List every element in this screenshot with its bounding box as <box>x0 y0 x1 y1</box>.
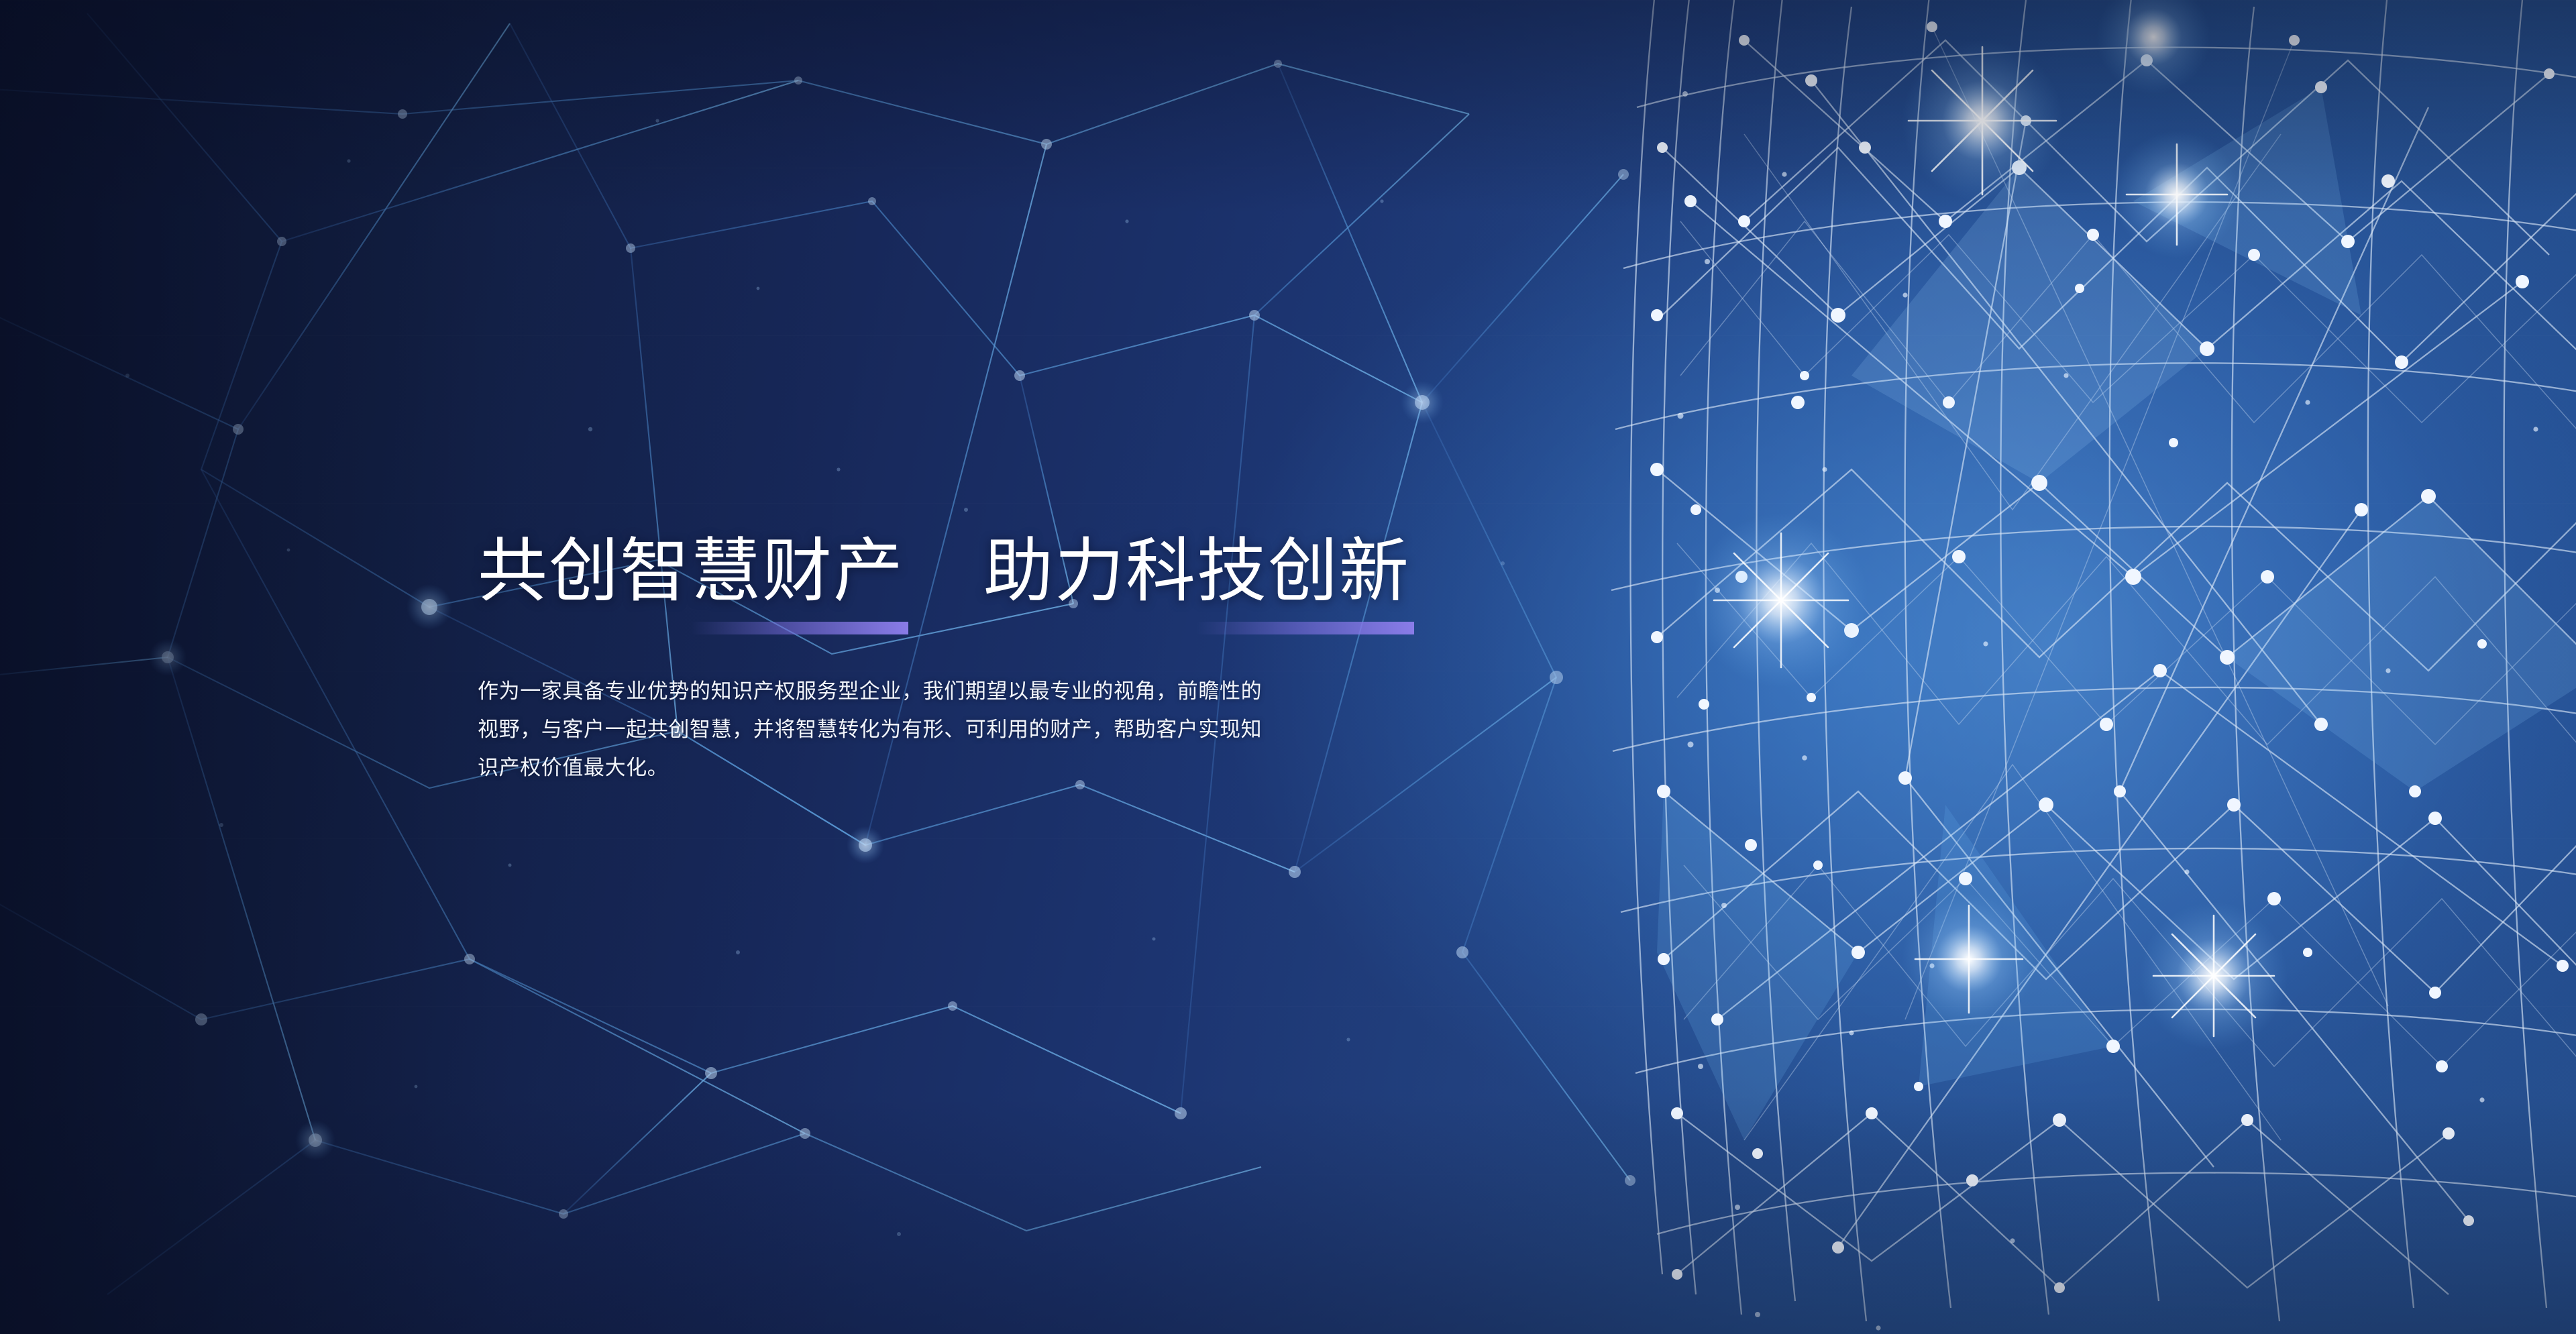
headline-accent-bar-1 <box>691 622 908 634</box>
page-title: 共创智慧财产 助力科技创新 <box>478 537 1484 606</box>
headline-phrase-1: 共创智慧财产 <box>478 537 904 606</box>
hero-banner: 共创智慧财产 助力科技创新 作为一家具备专业优势的知识产权服务型企业，我们期望以… <box>0 0 2576 1334</box>
headline-phrase-1-text: 共创智慧财产 <box>478 533 904 610</box>
headline-accent-bar-2 <box>1197 622 1414 634</box>
headline-phrase-2: 助力科技创新 <box>983 537 1410 606</box>
hero-description: 作为一家具备专业优势的知识产权服务型企业，我们期望以最专业的视角，前瞻性的视野，… <box>478 672 1263 787</box>
hero-content: 共创智慧财产 助力科技创新 作为一家具备专业优势的知识产权服务型企业，我们期望以… <box>478 537 1484 787</box>
headline-phrase-2-text: 助力科技创新 <box>983 533 1410 610</box>
